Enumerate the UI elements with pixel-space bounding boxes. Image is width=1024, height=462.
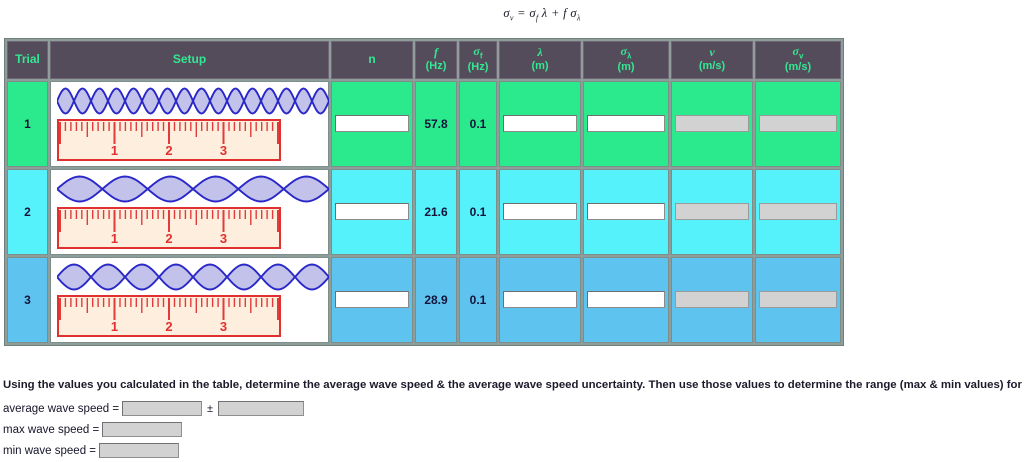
- svg-text:1: 1: [111, 319, 118, 334]
- cell-setup-diagram: 123: [50, 169, 329, 255]
- formula-plus: +: [551, 6, 560, 20]
- cell-sigma-f: 0.1: [459, 169, 497, 255]
- header-trial: Trial: [7, 41, 48, 79]
- svg-text:3: 3: [220, 319, 227, 334]
- average-wave-speed-label: average wave speed =: [3, 403, 119, 415]
- table-header-row: Trial Setup n f (Hz) σf (Hz) λ (m) σλ (m…: [7, 41, 841, 79]
- header-sigma-lambda-unit: (m): [585, 61, 667, 73]
- cell-velocity: [671, 81, 753, 167]
- cell-n: [331, 257, 413, 343]
- sigma-v-formula: σv = σf λ + f σλ: [503, 6, 580, 23]
- header-n: n: [331, 41, 413, 79]
- standing-wave-graphic: [57, 262, 329, 292]
- cell-sigma-v: [755, 169, 841, 255]
- sigma-lambda-input[interactable]: [587, 291, 664, 308]
- velocity-output: [675, 291, 749, 308]
- formula-term1-subscript: f: [536, 14, 539, 23]
- svg-text:3: 3: [220, 231, 227, 246]
- cell-velocity: [671, 257, 753, 343]
- average-wave-speed-row: average wave speed = ±: [3, 399, 1021, 418]
- cell-sigma-lambda: [583, 81, 669, 167]
- sigma-lambda-input[interactable]: [587, 203, 664, 220]
- table-row: 212321.60.1: [7, 169, 841, 255]
- svg-text:1: 1: [111, 231, 118, 246]
- formula-equals: =: [517, 6, 526, 20]
- standing-wave-graphic: [57, 174, 329, 204]
- n-input[interactable]: [335, 291, 409, 308]
- table-row: 112357.80.1: [7, 81, 841, 167]
- cell-frequency: 21.6: [415, 169, 457, 255]
- header-sigma-f-subscript: f: [480, 51, 483, 60]
- cell-trial-number: 2: [7, 169, 48, 255]
- svg-text:3: 3: [220, 143, 227, 158]
- formula-lhs-subscript: v: [510, 14, 514, 23]
- cell-frequency: 57.8: [415, 81, 457, 167]
- cell-sigma-f: 0.1: [459, 257, 497, 343]
- header-velocity-unit: (m/s): [673, 60, 751, 72]
- header-sigma-v-subscript: v: [799, 51, 803, 60]
- velocity-output: [675, 115, 749, 132]
- cell-lambda: [499, 169, 581, 255]
- cell-trial-number: 3: [7, 257, 48, 343]
- header-velocity-symbol: v: [709, 45, 714, 59]
- formula-bar: σv = σf λ + f σλ: [0, 6, 1024, 23]
- min-wave-speed-input[interactable]: [99, 443, 179, 458]
- velocity-output: [675, 203, 749, 220]
- cell-sigma-lambda: [583, 169, 669, 255]
- svg-text:2: 2: [165, 231, 172, 246]
- lambda-input[interactable]: [503, 203, 577, 220]
- cell-trial-number: 1: [7, 81, 48, 167]
- cell-frequency: 28.9: [415, 257, 457, 343]
- header-setup: Setup: [50, 41, 329, 79]
- cell-sigma-lambda: [583, 257, 669, 343]
- sigma-v-output: [759, 203, 836, 220]
- data-table-wrapper: Trial Setup n f (Hz) σf (Hz) λ (m) σλ (m…: [4, 38, 842, 346]
- cell-sigma-f: 0.1: [459, 81, 497, 167]
- cell-sigma-v: [755, 257, 841, 343]
- formula-term4-subscript: λ: [577, 14, 581, 23]
- header-frequency-unit: (Hz): [417, 60, 455, 72]
- ruler-graphic: 123: [57, 295, 281, 337]
- cell-n: [331, 81, 413, 167]
- ruler-graphic: 123: [57, 119, 281, 161]
- header-lambda-symbol: λ: [537, 45, 542, 59]
- average-wave-speed-input[interactable]: [122, 401, 202, 416]
- cell-setup-diagram: 123: [50, 81, 329, 167]
- cell-lambda: [499, 81, 581, 167]
- ruler-graphic: 123: [57, 207, 281, 249]
- cell-sigma-v: [755, 81, 841, 167]
- sigma-v-output: [759, 291, 836, 308]
- plus-minus-symbol: ±: [207, 403, 213, 415]
- lambda-input[interactable]: [503, 115, 577, 132]
- cell-lambda: [499, 257, 581, 343]
- svg-text:2: 2: [165, 319, 172, 334]
- lambda-input[interactable]: [503, 291, 577, 308]
- formula-term2-lambda: λ: [542, 6, 548, 20]
- wave-data-table: Trial Setup n f (Hz) σf (Hz) λ (m) σλ (m…: [4, 38, 844, 346]
- min-wave-speed-row: min wave speed =: [3, 441, 1021, 460]
- header-sigma-f: σf (Hz): [459, 41, 497, 79]
- header-sigma-lambda: σλ (m): [583, 41, 669, 79]
- header-lambda: λ (m): [499, 41, 581, 79]
- header-velocity: v (m/s): [671, 41, 753, 79]
- sigma-lambda-input[interactable]: [587, 115, 664, 132]
- svg-text:1: 1: [111, 143, 118, 158]
- formula-term3-f: f: [563, 6, 567, 20]
- n-input[interactable]: [335, 203, 409, 220]
- header-sigma-v-unit: (m/s): [757, 61, 839, 73]
- sigma-v-output: [759, 115, 836, 132]
- table-body: 112357.80.1212321.60.1312328.90.1: [7, 81, 841, 343]
- instruction-text: Using the values you calculated in the t…: [3, 378, 1021, 393]
- header-frequency-symbol: f: [434, 45, 438, 59]
- standing-wave-graphic: [57, 86, 329, 116]
- header-sigma-v: σv (m/s): [755, 41, 841, 79]
- cell-velocity: [671, 169, 753, 255]
- header-sigma-f-unit: (Hz): [461, 61, 495, 73]
- n-input[interactable]: [335, 115, 409, 132]
- table-row: 312328.90.1: [7, 257, 841, 343]
- max-wave-speed-label: max wave speed =: [3, 424, 99, 436]
- header-frequency: f (Hz): [415, 41, 457, 79]
- cell-setup-diagram: 123: [50, 257, 329, 343]
- min-wave-speed-label: min wave speed =: [3, 445, 96, 457]
- max-wave-speed-row: max wave speed =: [3, 420, 1021, 439]
- header-sigma-lambda-subscript: λ: [627, 51, 631, 60]
- average-wave-speed-uncertainty-input[interactable]: [218, 401, 304, 416]
- svg-text:2: 2: [165, 143, 172, 158]
- max-wave-speed-input[interactable]: [102, 422, 182, 437]
- bottom-section: Using the values you calculated in the t…: [3, 378, 1021, 462]
- cell-n: [331, 169, 413, 255]
- header-lambda-unit: (m): [501, 60, 579, 72]
